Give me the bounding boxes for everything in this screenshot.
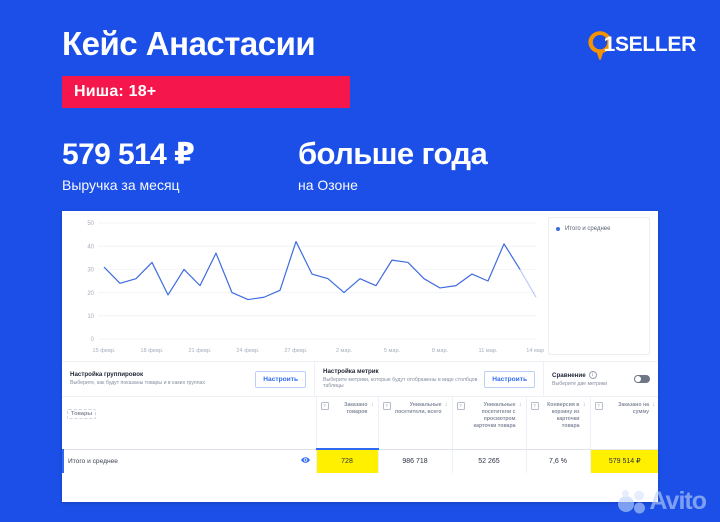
svg-text:2 мар.: 2 мар. (336, 348, 353, 354)
grouping-configure-button[interactable]: Настроить (255, 371, 306, 388)
legend-color-dot (556, 227, 560, 231)
comparison-description: Выберите две метрики (552, 381, 628, 388)
brand-logo-text: 1SELLER (604, 33, 696, 57)
dashboard-card: 0102030405015 февр.18 февр.21 февр.24 фе… (62, 211, 658, 502)
sort-desc-icon[interactable]: ↓ (371, 402, 374, 416)
niche-badge-label: Ниша: 18+ (74, 83, 156, 101)
sort-desc-icon[interactable]: ↓ (519, 402, 522, 430)
cell-ordered-amount: 579 514 ₽ (590, 449, 658, 473)
column-header-goods-label: Товары (67, 409, 96, 419)
svg-text:15 февр.: 15 февр. (92, 348, 116, 354)
column-header-label: Уникальные посетители, всего (394, 402, 442, 416)
cell-unique-visitors-card-views: 52 265 (452, 449, 526, 473)
settings-metrics: Настройка метрик Выберите метрики, котор… (315, 362, 544, 396)
svg-text:10: 10 (87, 314, 94, 320)
metrics-table: Товары ? Заказано товаров ↓ ? Уникальные… (62, 397, 658, 473)
column-header-ordered-items[interactable]: ? Заказано товаров ↓ (316, 397, 378, 449)
chart-block: 0102030405015 февр.18 февр.21 февр.24 фе… (62, 211, 658, 362)
column-header-unique-visitors-card-views[interactable]: ? Уникальные посетители с просмотром кар… (452, 397, 526, 449)
svg-text:8 мар.: 8 мар. (432, 348, 449, 354)
column-header-label: Заказано товаров (332, 402, 368, 416)
poster-canvas: Кейс Анастасии Ниша: 18+ 1SELLER 579 514… (0, 0, 720, 522)
column-header-label: Уникальные посетители с просмотром карто… (468, 402, 516, 430)
column-header-goods[interactable]: Товары (63, 397, 316, 449)
metrics-description: Выберите метрики, которые будут отображе… (323, 377, 478, 391)
table-row-total: Итого и среднее 728 986 718 52 265 7,6 %… (63, 449, 658, 473)
svg-text:24 февр.: 24 февр. (236, 348, 260, 354)
kpi-duration-caption: на Озоне (298, 177, 487, 193)
svg-text:0: 0 (91, 337, 95, 343)
column-header-cart-conversion[interactable]: ? Конверсия в корзину из карточки товара… (526, 397, 590, 449)
info-icon[interactable]: i (589, 371, 597, 379)
cell-unique-visitors-total: 986 718 (378, 449, 452, 473)
sort-desc-icon[interactable]: ↓ (445, 402, 448, 416)
column-header-unique-visitors-total[interactable]: ? Уникальные посетители, всего ↓ (378, 397, 452, 449)
sort-desc-icon[interactable]: ↓ (583, 402, 586, 430)
svg-text:14 мар.: 14 мар. (526, 348, 544, 354)
svg-text:21 февр.: 21 февр. (188, 348, 212, 354)
svg-text:18 февр.: 18 февр. (140, 348, 164, 354)
kpi-duration-value: больше года (298, 136, 487, 172)
chart-legend: Итого и среднее (548, 217, 650, 355)
sort-desc-icon[interactable]: ↓ (652, 402, 655, 416)
svg-text:30: 30 (87, 268, 94, 274)
legend-item: Итого и среднее (556, 226, 649, 232)
svg-text:5 мар.: 5 мар. (384, 348, 401, 354)
svg-text:40: 40 (87, 244, 94, 250)
help-icon[interactable]: ? (383, 402, 391, 410)
kpi-duration: больше года на Озоне (298, 136, 487, 193)
settings-grouping: Настройка группировок Выберите, как буду… (62, 362, 315, 396)
grouping-description: Выберите, как будут показаны товары и в … (70, 380, 249, 387)
eye-icon[interactable] (301, 457, 310, 465)
metrics-title: Настройка метрик (323, 368, 478, 376)
total-row-label-cell: Итого и среднее (63, 449, 316, 473)
settings-strip: Настройка группировок Выберите, как буду… (62, 362, 658, 397)
kpi-revenue-caption: Выручка за месяц (62, 177, 194, 193)
cell-cart-conversion: 7,6 % (526, 449, 590, 473)
column-header-ordered-amount[interactable]: ? Заказано на сумму ↓ (590, 397, 658, 449)
kpi-revenue-value: 579 514 ₽ (62, 137, 194, 172)
legend-label: Итого и среднее (565, 226, 610, 232)
cell-ordered-items: 728 (316, 449, 378, 473)
column-header-label: Заказано на сумму (606, 402, 650, 416)
comparison-toggle[interactable] (634, 375, 650, 383)
help-icon[interactable]: ? (457, 402, 465, 410)
metrics-configure-button[interactable]: Настроить (484, 371, 535, 388)
grouping-title: Настройка группировок (70, 371, 249, 379)
comparison-title: Сравнениеi (552, 371, 628, 380)
line-chart: 0102030405015 февр.18 февр.21 февр.24 фе… (62, 211, 544, 361)
svg-text:50: 50 (87, 221, 94, 227)
help-icon[interactable]: ? (595, 402, 603, 410)
kpi-revenue: 579 514 ₽ Выручка за месяц (62, 137, 194, 193)
settings-comparison: Сравнениеi Выберите две метрики (544, 362, 658, 396)
niche-badge: Ниша: 18+ (62, 76, 350, 108)
comparison-title-label: Сравнение (552, 372, 586, 379)
help-icon[interactable]: ? (321, 402, 329, 410)
table-header-row: Товары ? Заказано товаров ↓ ? Уникальные… (63, 397, 658, 449)
page-title: Кейс Анастасии (62, 25, 315, 63)
svg-text:27 февр.: 27 февр. (284, 348, 308, 354)
help-icon[interactable]: ? (531, 402, 539, 410)
column-header-label: Конверсия в корзину из карточки товара (542, 402, 580, 430)
svg-text:11 мар.: 11 мар. (479, 348, 498, 354)
total-row-label: Итого и среднее (68, 458, 118, 465)
svg-text:20: 20 (87, 291, 94, 297)
brand-logo: 1SELLER (583, 28, 696, 62)
